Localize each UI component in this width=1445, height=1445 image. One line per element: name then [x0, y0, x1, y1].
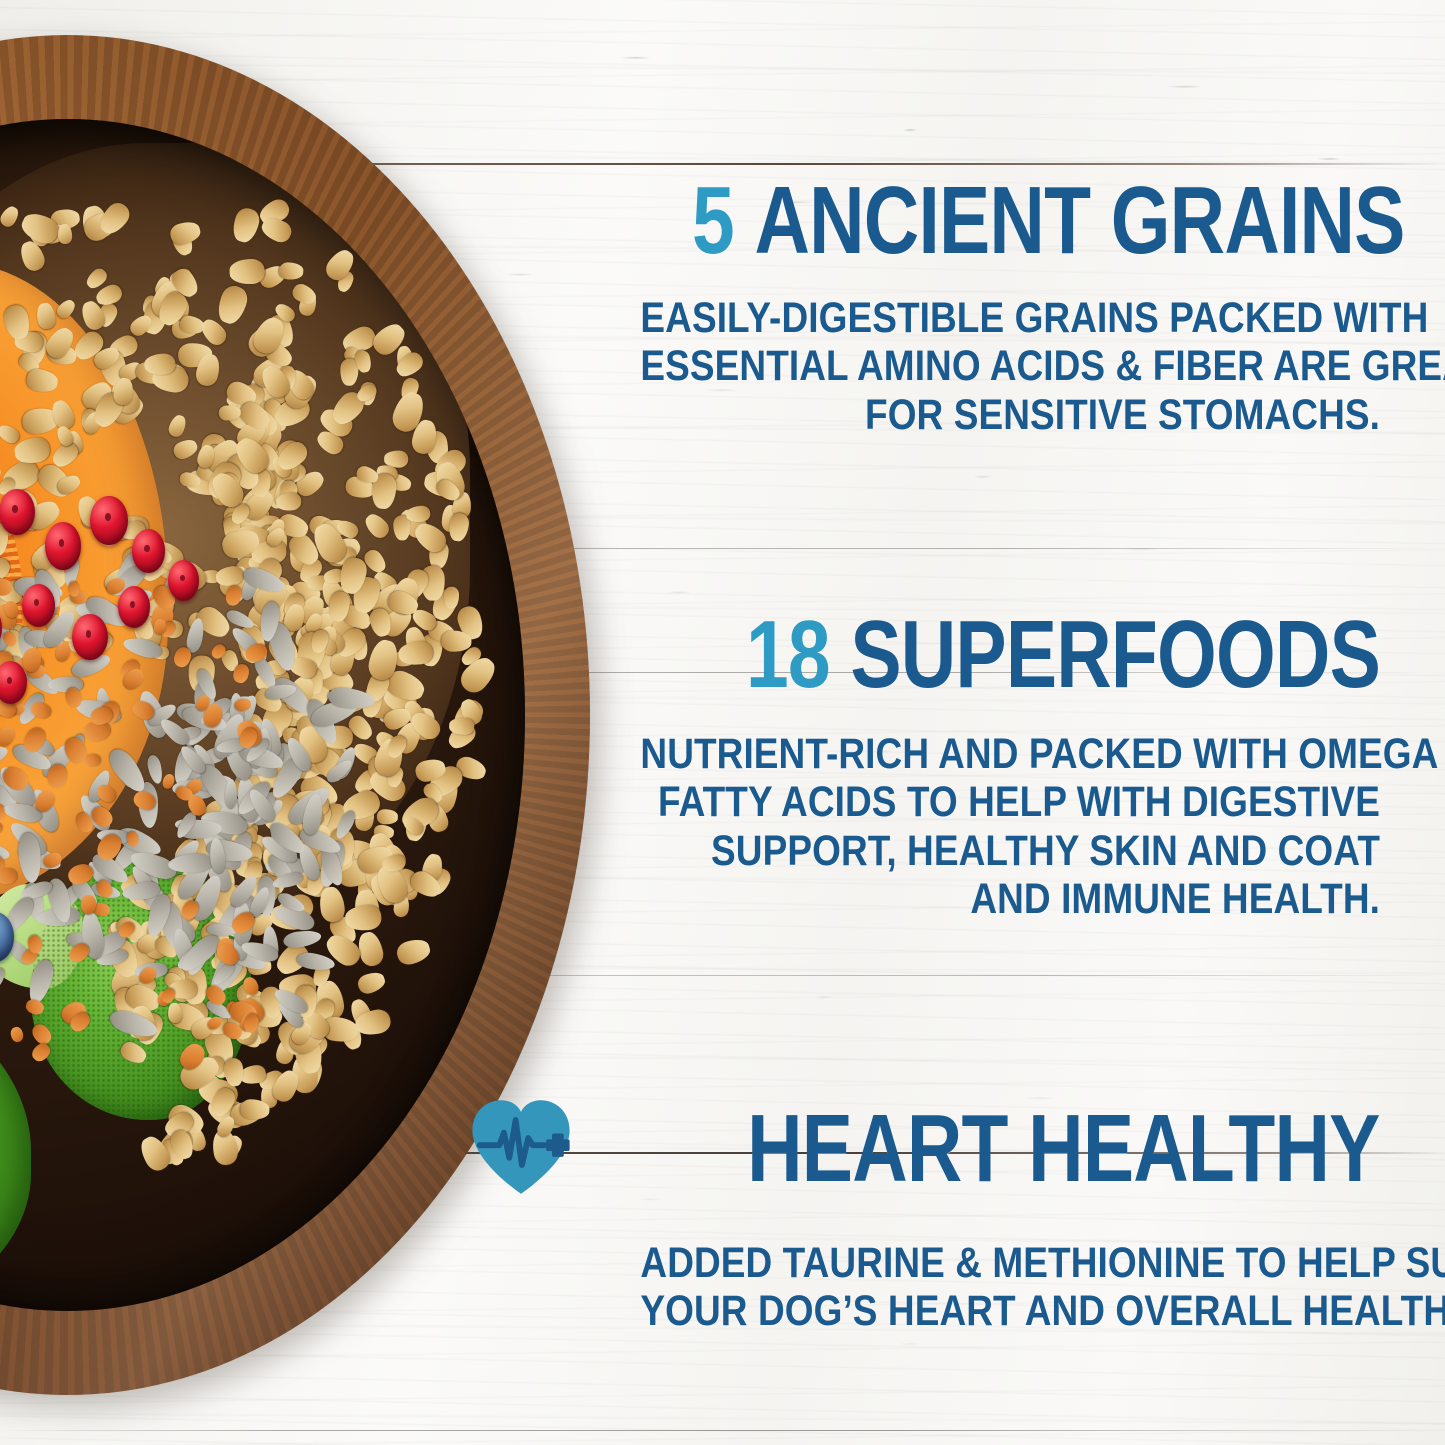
- lentil: [84, 754, 100, 767]
- grain-kernel: [230, 206, 263, 246]
- grain-kernel: [25, 367, 60, 394]
- sunflower-seed: [146, 754, 165, 785]
- body-line: NUTRIENT-RICH AND PACKED WITH OMEGA: [640, 730, 1380, 778]
- lentil: [0, 868, 18, 885]
- heart-healthy-headline-row: HEART HEALTHY: [520, 1095, 1380, 1203]
- section-superfoods: 18 SUPERFOODS NUTRIENT-RICH AND PACKED W…: [520, 610, 1380, 923]
- grain-kernel: [240, 1099, 270, 1121]
- grain-kernel: [377, 809, 399, 824]
- grain-kernel: [168, 219, 202, 247]
- grain-kernel: [35, 302, 56, 330]
- cranberry: [45, 522, 82, 570]
- bowl-interior: [0, 119, 525, 1310]
- ancient-grains-headline: 5 ANCIENT GRAINS: [692, 176, 1380, 266]
- grain-kernel: [345, 904, 383, 932]
- superfoods-body: NUTRIENT-RICH AND PACKED WITH OMEGA FATT…: [640, 730, 1380, 923]
- body-line: AND IMMUNE HEALTH.: [640, 875, 1380, 923]
- grain-kernel: [144, 353, 176, 376]
- grain-kernel: [355, 930, 386, 969]
- grain-kernel: [0, 204, 21, 230]
- grain-kernel: [171, 437, 200, 462]
- heart-healthy-body: ADDED TAURINE & METHIONINE TO HELP SUPPO…: [640, 1239, 1380, 1335]
- grain-kernel: [259, 214, 295, 245]
- grain-kernel: [444, 587, 460, 609]
- sunflower-seed: [0, 966, 7, 998]
- grain-kernel: [279, 262, 304, 280]
- body-line: EASILY-DIGESTIBLE GRAINS PACKED WITH: [640, 294, 1380, 342]
- section-ancient-grains: 5 ANCIENT GRAINS EASILY-DIGESTIBLE GRAIN…: [520, 176, 1380, 439]
- heart-healthy-title: HEART HEALTHY: [748, 1104, 1380, 1194]
- body-line: ADDED TAURINE & METHIONINE TO HELP SUPPO…: [640, 1239, 1380, 1287]
- grain-kernel: [318, 886, 347, 924]
- cranberry: [168, 560, 199, 601]
- grain-kernel: [166, 413, 188, 439]
- cranberry: [118, 586, 150, 628]
- ancient-grains-title: ANCIENT GRAINS: [754, 167, 1404, 274]
- grain-kernel: [406, 504, 431, 523]
- body-line: YOUR DOG’S HEART AND OVERALL HEALTH.: [640, 1287, 1380, 1335]
- superfoods-number: 18: [746, 601, 850, 708]
- cranberry: [0, 661, 27, 704]
- grain-kernel: [362, 510, 393, 541]
- body-line: SUPPORT, HEALTHY SKIN AND COAT: [640, 827, 1380, 875]
- grain-kernel: [441, 630, 471, 651]
- grain-kernel: [54, 297, 78, 322]
- body-line: ESSENTIAL AMINO ACIDS & FIBER ARE GREAT: [640, 342, 1380, 390]
- lentil: [10, 1025, 25, 1043]
- grain-kernel: [356, 969, 388, 996]
- cranberry: [72, 614, 108, 660]
- lentil: [24, 997, 46, 1016]
- superfoods-headline: 18 SUPERFOODS: [692, 610, 1380, 700]
- heart-pulse-icon: [467, 1095, 575, 1199]
- grain-kernel: [214, 283, 251, 327]
- benefits-text-column: 5 ANCIENT GRAINS EASILY-DIGESTIBLE GRAIN…: [545, 0, 1405, 1445]
- lentil: [29, 1041, 53, 1065]
- grain-kernel: [275, 491, 302, 511]
- superfoods-title: SUPERFOODS: [850, 601, 1380, 708]
- body-line: FOR SENSITIVE STOMACHS.: [640, 391, 1380, 439]
- cranberry: [90, 496, 128, 545]
- lentil: [0, 820, 3, 838]
- infographic-canvas: 5 ANCIENT GRAINS EASILY-DIGESTIBLE GRAIN…: [0, 0, 1445, 1445]
- grain-kernel: [230, 259, 266, 285]
- cranberry: [0, 489, 35, 535]
- section-heart-healthy: HEART HEALTHY ADDED TAURINE & METHIONINE…: [520, 1095, 1380, 1335]
- grain-kernel: [395, 936, 433, 967]
- body-line: FATTY ACIDS TO HELP WITH DIGESTIVE: [640, 778, 1380, 826]
- scattered-superfoods: [0, 119, 525, 1310]
- grain-kernel: [449, 718, 474, 736]
- ancient-grains-number: 5: [692, 167, 754, 274]
- ancient-grains-body: EASILY-DIGESTIBLE GRAINS PACKED WITH ESS…: [640, 294, 1380, 438]
- cranberry: [22, 584, 55, 627]
